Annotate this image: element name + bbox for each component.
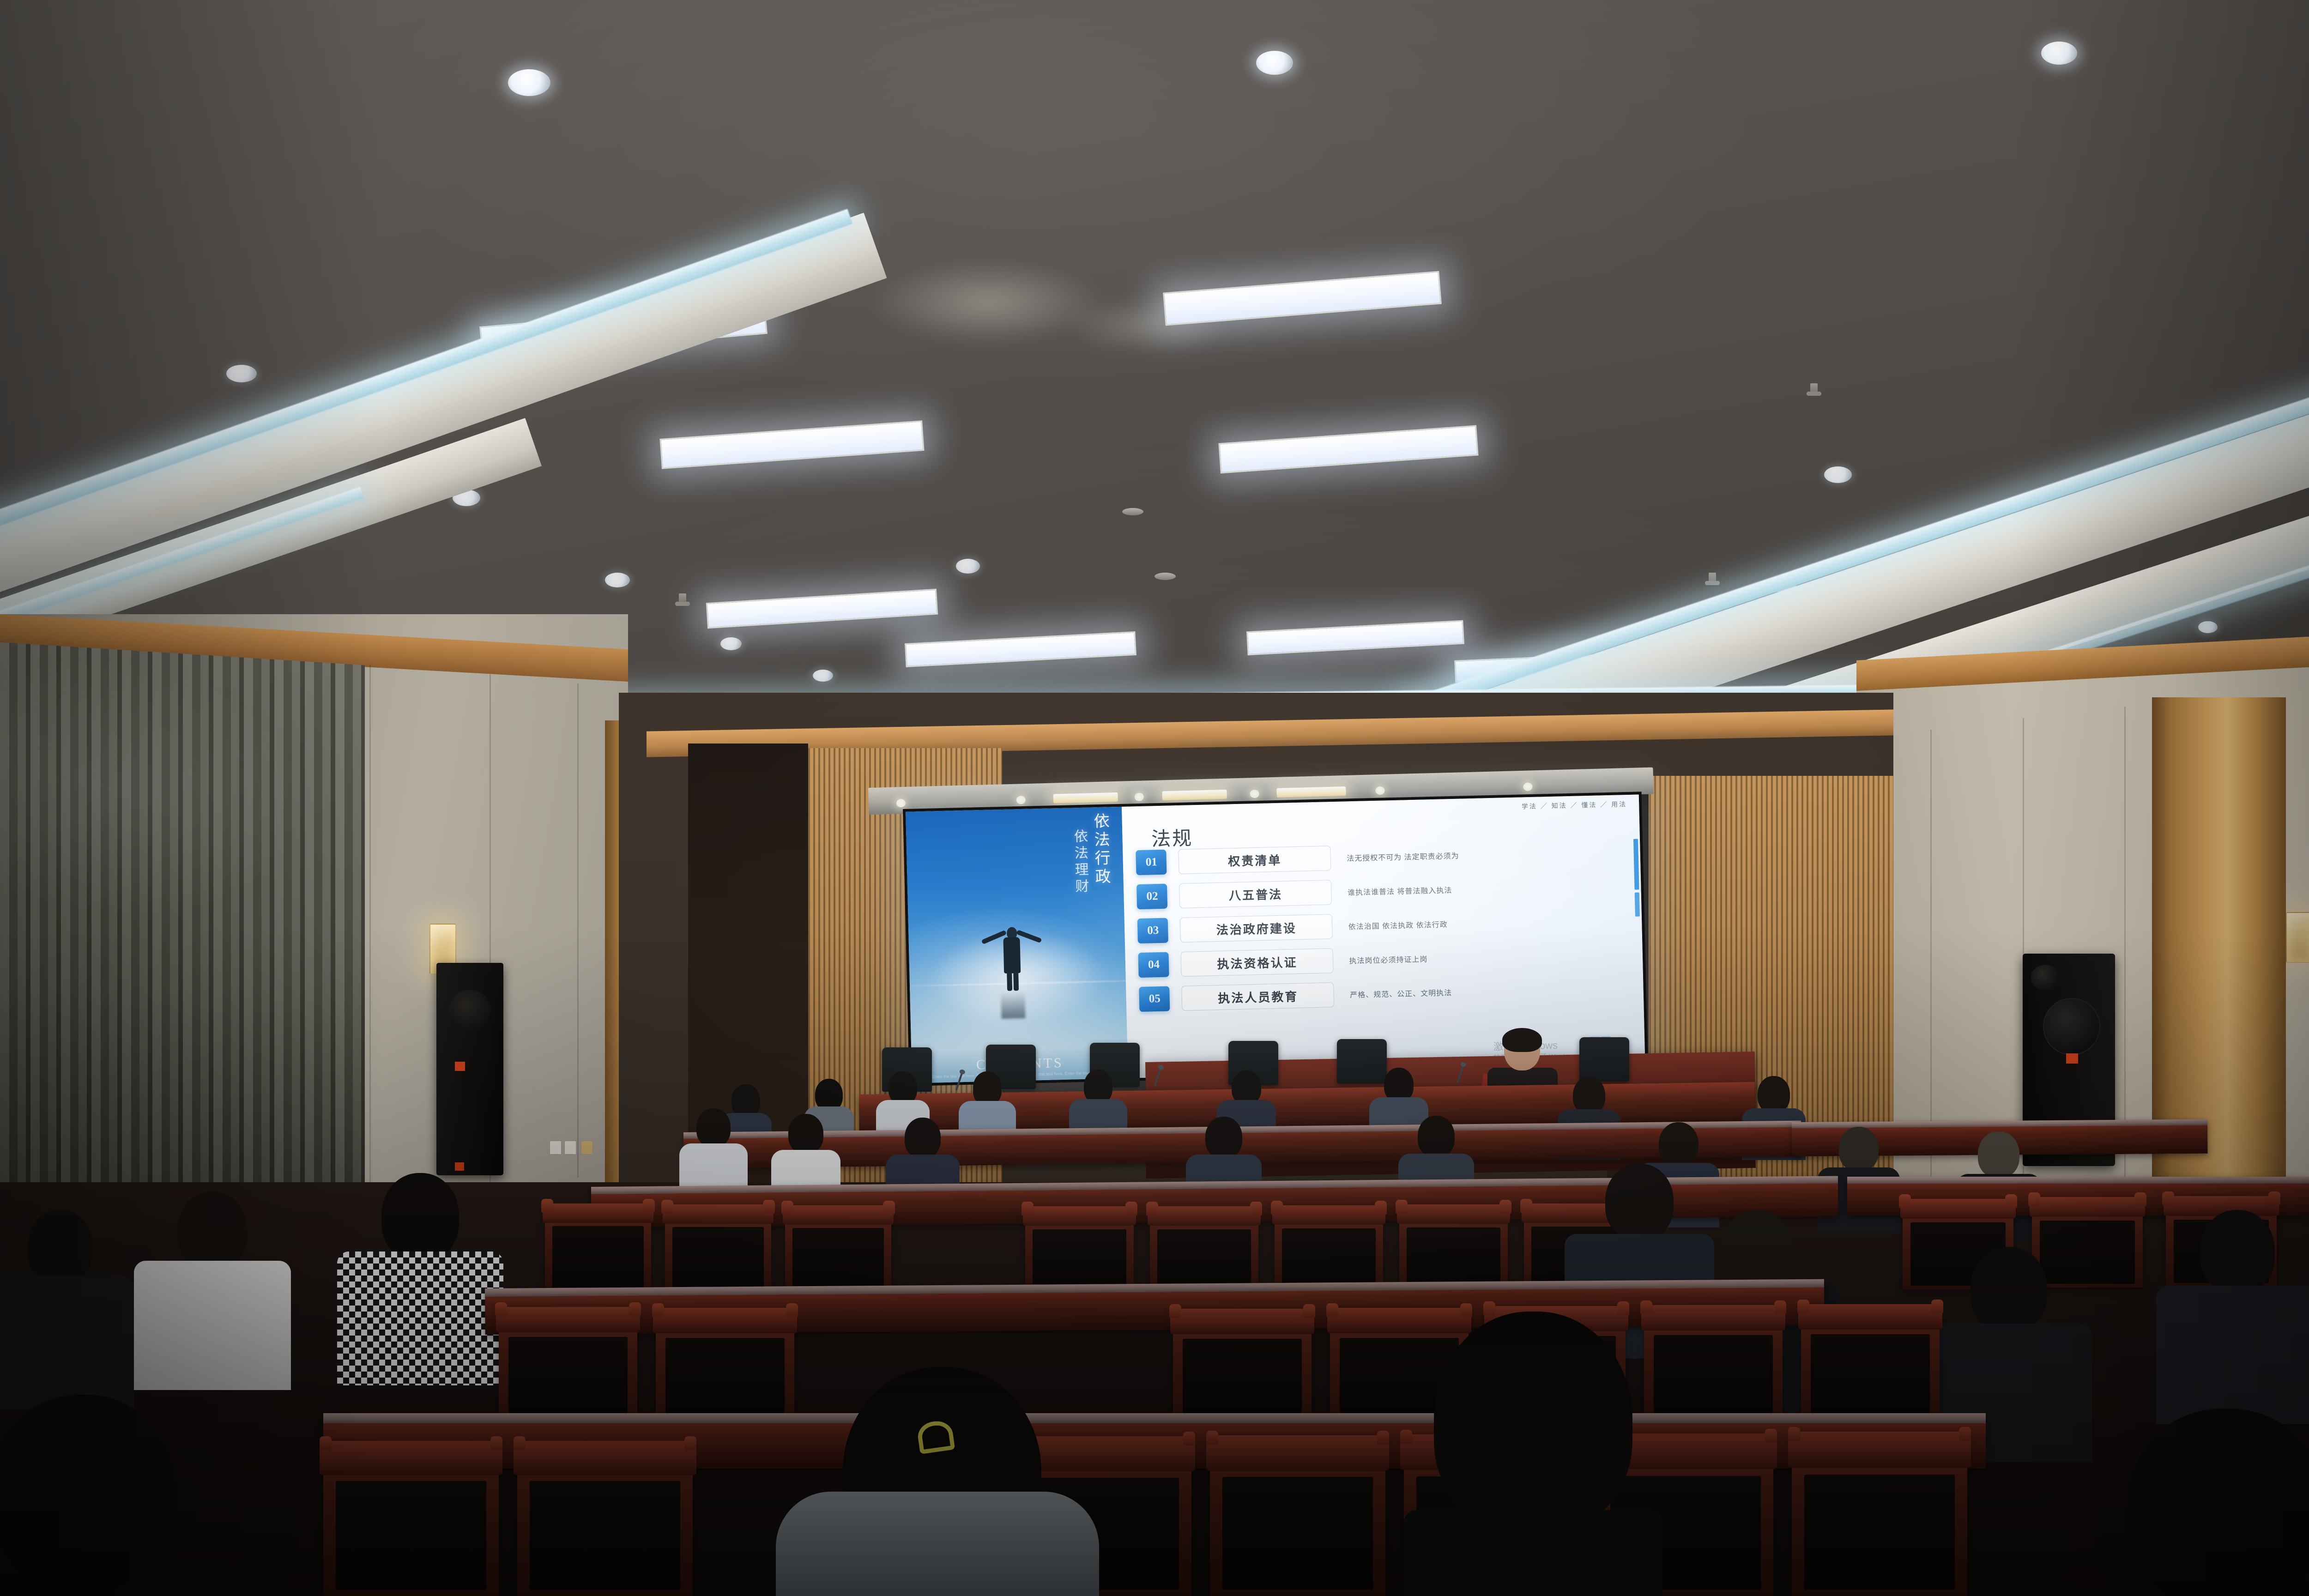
ceiling-downlight: [605, 573, 630, 587]
slide-row: 04 执法资格认证 执法岗位必须持证上岗: [1138, 940, 1638, 979]
slide-row: 01 权责清单 法无授权不可为 法定职责必须为: [1136, 837, 1636, 877]
slide-row-list: 01 权责清单 法无授权不可为 法定职责必须为 02 八五普法 谁执法谁普法 将…: [1136, 837, 1639, 1020]
valance-lamp: [1053, 792, 1118, 804]
ceiling-surface: [0, 0, 2309, 720]
speaker-cone: [448, 990, 491, 1032]
jbl-logo: [455, 1062, 465, 1071]
auditorium-chair[interactable]: [1173, 1309, 1312, 1424]
valance-downlight: [1523, 782, 1532, 791]
valance-downlight: [1134, 792, 1143, 801]
conference-hall-photo: 依法行政 依法理财 CONTENTS Enter the title text …: [0, 0, 2309, 1596]
foreground-person-dark-hair-right: [1413, 1312, 1653, 1596]
ceiling-downlight: [2198, 621, 2218, 633]
slide-row-number: 05: [1139, 986, 1170, 1012]
foreground-person-left-edge: [0, 1395, 194, 1596]
auditorium-chair[interactable]: [1150, 1206, 1258, 1295]
slide-row: 05 执法人员教育 严格、规范、公正、文明执法: [1139, 974, 1639, 1013]
auditorium-chair[interactable]: [1399, 1204, 1508, 1293]
wall-switch-plate[interactable]: [550, 1141, 562, 1155]
ceiling-downlight: [1256, 51, 1293, 75]
ceiling-downlight: [956, 559, 980, 574]
wall-seam: [577, 683, 579, 1178]
slide-row: 03 法治政府建设 依法治国 依法执政 依法行政: [1137, 906, 1638, 945]
ceiling-downlight: [1824, 466, 1852, 483]
slide-poster-panel: 依法行政 依法理财 CONTENTS Enter the title text …: [906, 807, 1128, 1083]
wall-outlet-plate[interactable]: [581, 1141, 593, 1155]
slide-row-label: 八五普法: [1179, 880, 1332, 908]
poster-vertical-text-1: 依法行政: [1088, 812, 1113, 887]
auditorium-chair[interactable]: [517, 1441, 693, 1596]
wall-sconce-right: [2286, 912, 2309, 963]
audience-person: [2161, 1210, 2309, 1413]
smoke-detector: [1154, 573, 1176, 580]
slide-row-description: 法无授权不可为 法定职责必须为: [1347, 850, 1459, 864]
ceiling-downlight: [813, 670, 833, 682]
auditorium-chair[interactable]: [323, 1441, 499, 1596]
slide-row-label: 权责清单: [1179, 846, 1331, 874]
ceiling-sprinkler: [679, 593, 686, 605]
speaker-tweeter: [2031, 965, 2060, 991]
wall-switch-plate[interactable]: [564, 1141, 576, 1155]
ceiling-downlight: [226, 365, 257, 382]
auditorium-chair[interactable]: [1210, 1435, 1385, 1596]
valance-lamp: [1162, 790, 1227, 801]
foreground-person-right-edge: [2106, 1409, 2309, 1596]
slide-row-number: 01: [1136, 850, 1167, 876]
auditorium-chair[interactable]: [545, 1203, 651, 1291]
slide-row-number: 04: [1138, 952, 1169, 978]
slide-row-description: 依法治国 依法执政 依法行政: [1348, 918, 1447, 931]
ceiling-downlight: [508, 69, 550, 96]
valance-downlight: [1016, 796, 1026, 804]
jbl-speaker-left: [436, 963, 503, 1175]
slide-row-number: 03: [1137, 918, 1168, 944]
slide-row-label: 法治政府建设: [1180, 914, 1333, 943]
slide-accent-bar-2: [1635, 892, 1640, 916]
ceiling-sprinkler: [1709, 573, 1716, 585]
auditorium-chair[interactable]: [499, 1307, 637, 1422]
slide-row-description: 执法岗位必须持证上岗: [1349, 953, 1428, 966]
slide-row: 02 八五普法 谁执法谁普法 将普法融入执法: [1136, 871, 1637, 911]
valance-lamp: [1276, 786, 1346, 798]
jbl-logo: [455, 1162, 464, 1171]
slide-row-label: 执法人员教育: [1182, 982, 1335, 1011]
auditorium-chair[interactable]: [1644, 1305, 1783, 1421]
stage-chair: [1579, 1037, 1629, 1082]
ceiling-sprinkler: [1810, 383, 1818, 395]
smoke-detector: [1122, 508, 1143, 515]
poster-silhouette-figure: [979, 920, 1046, 1000]
poster-vertical-text-2: 依法理财: [1069, 829, 1091, 896]
audience-person-white-vest: [139, 1191, 286, 1385]
audience-person-houndstooth: [342, 1173, 499, 1376]
jbl-logo: [2066, 1053, 2078, 1064]
valance-downlight: [896, 799, 906, 808]
wall-seam: [369, 665, 371, 1205]
speaker-cone: [2043, 998, 2100, 1055]
ceiling-downlight: [2041, 42, 2077, 65]
slide-row-label: 执法资格认证: [1181, 948, 1334, 977]
foreground-person-grey-sweater: [785, 1492, 1090, 1596]
auditorium-chair[interactable]: [785, 1205, 891, 1293]
slide-accent-bar: [1633, 839, 1639, 890]
valance-downlight: [1375, 786, 1384, 795]
valance-downlight: [1250, 790, 1259, 798]
auditorium-chair[interactable]: [1275, 1205, 1383, 1294]
ceiling-downlight: [720, 637, 742, 650]
slide-row-description: 谁执法谁普法 将普法融入执法: [1348, 884, 1452, 897]
auditorium-chair[interactable]: [665, 1204, 771, 1292]
auditorium-chair[interactable]: [1801, 1304, 1940, 1420]
audience-person-dark-coat: [0, 1210, 129, 1404]
slide-row-number: 02: [1136, 884, 1167, 910]
auditorium-chair[interactable]: [1025, 1206, 1134, 1295]
audience-person: [683, 1108, 743, 1191]
slide-top-nav: 学法 ／ 知法 ／ 懂法 ／ 用法: [1522, 799, 1627, 811]
auditorium-chair[interactable]: [656, 1308, 794, 1423]
slide-row-description: 严格、规范、公正、文明执法: [1350, 986, 1452, 1000]
auditorium-chair[interactable]: [1792, 1432, 1967, 1596]
